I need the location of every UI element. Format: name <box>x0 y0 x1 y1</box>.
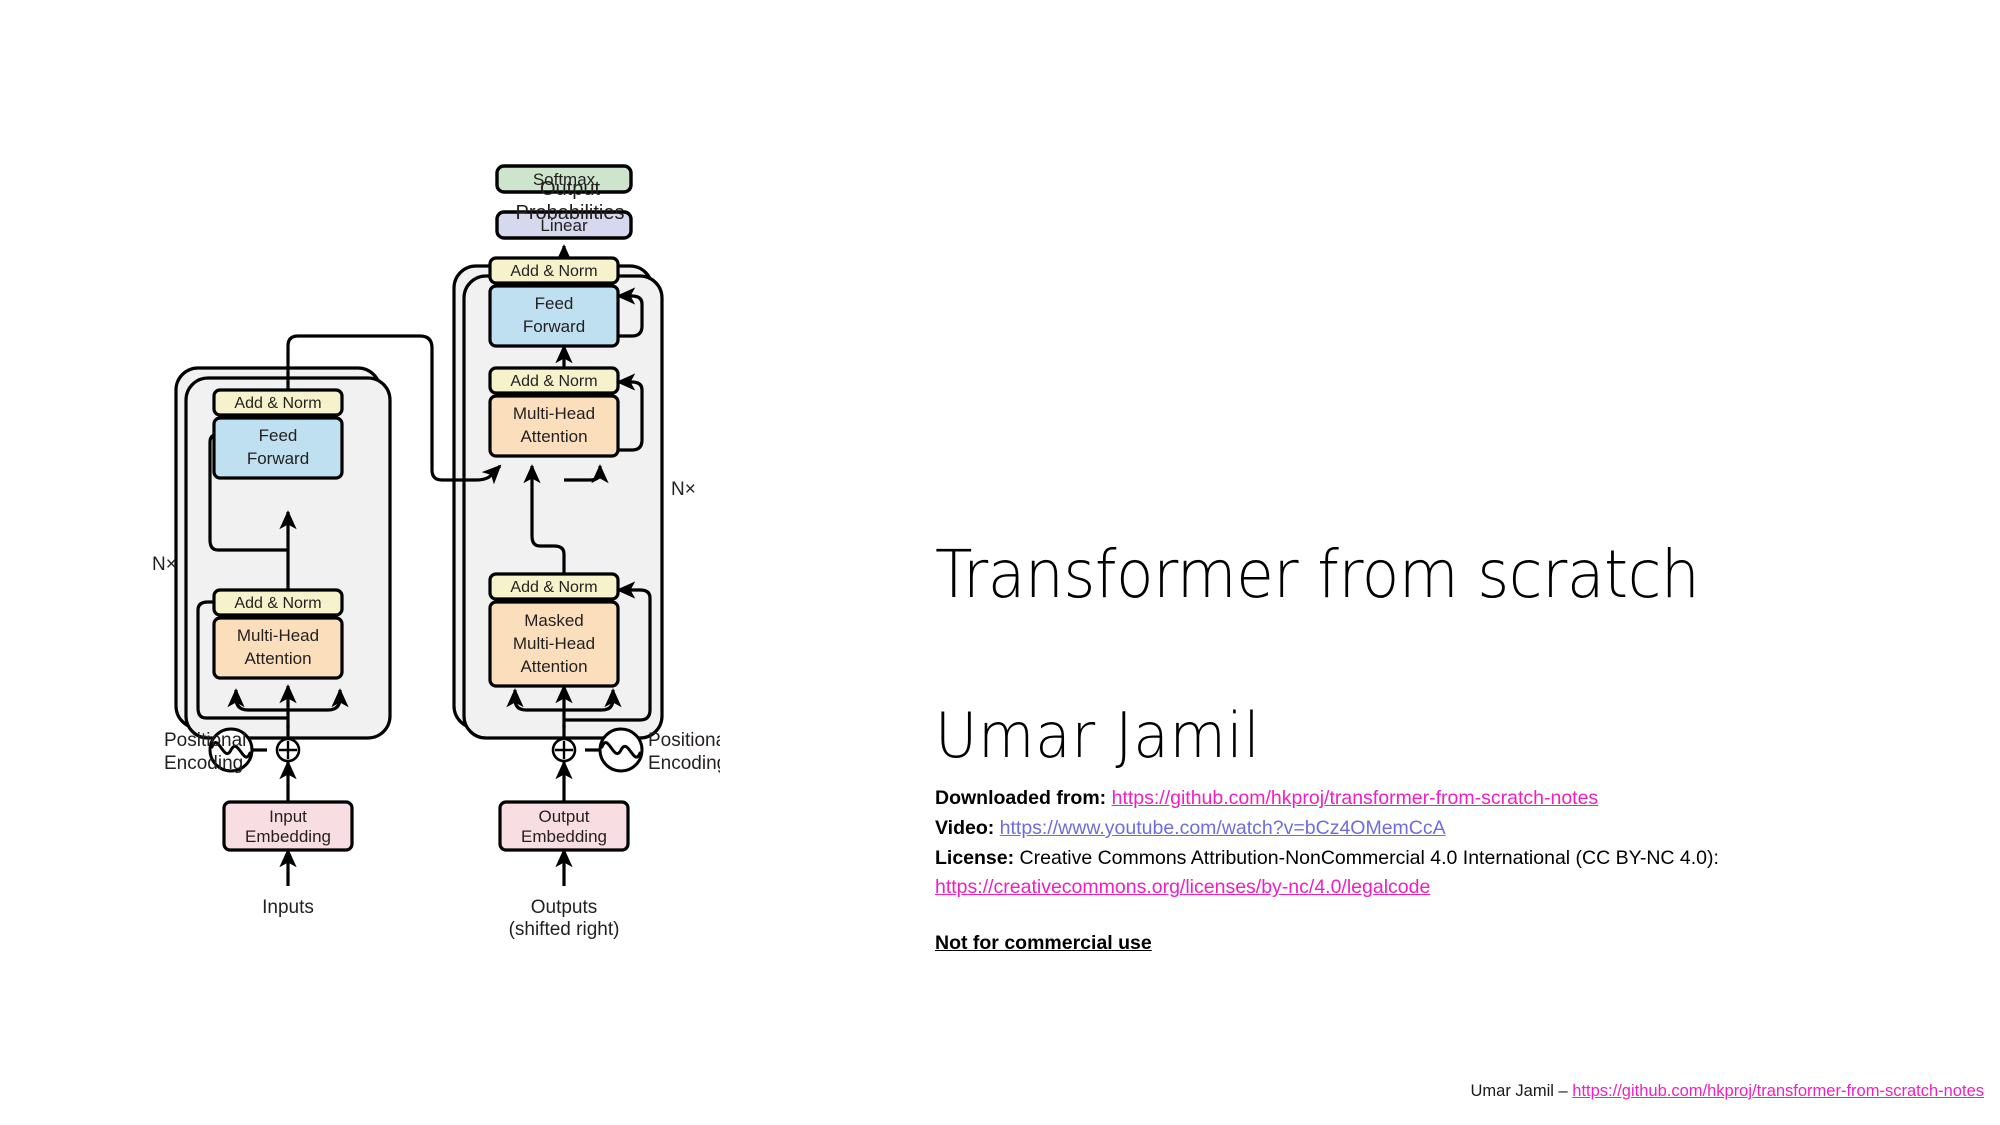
downloaded-from-label: Downloaded from: <box>935 787 1106 809</box>
credits-license-url-line: https://creativecommons.org/licenses/by-… <box>935 873 1945 903</box>
transformer-architecture-figure: Softmax Linear Add & Norm Feed Forward <box>140 150 720 970</box>
decoder-feed-forward: Feed Forward <box>490 286 618 346</box>
output-embedding-label-line1: Output <box>538 807 589 826</box>
commercial-use-notice: Not for commercial use <box>935 929 1152 959</box>
decoder-crossattn-label-line2: Attention <box>520 427 587 446</box>
decoder-crossattn-label-line1: Multi-Head <box>513 404 595 423</box>
output-embedding-box: Output Embedding <box>500 802 628 850</box>
input-embedding-label-line1: Input <box>269 807 307 826</box>
page-title: Transformer from scratch <box>935 540 1874 609</box>
transformer-diagram-svg: Softmax Linear Add & Norm Feed Forward <box>140 150 720 970</box>
encoder-self-attention: Multi-Head Attention <box>214 618 342 678</box>
decoder-ff-label-line2: Forward <box>523 317 585 336</box>
credits-block: Downloaded from: https://github.com/hkpr… <box>935 784 1945 958</box>
decoder-sum-node <box>553 739 575 761</box>
video-link[interactable]: https://www.youtube.com/watch?v=bCz4OMem… <box>1000 817 1446 839</box>
footer: Umar Jamil – https://github.com/hkproj/t… <box>1471 1082 1985 1101</box>
encoder-positional-label-line2: Encoding <box>164 753 243 774</box>
decoder-positional-label-line1: Positional <box>648 730 720 751</box>
encoder-ff-label-line2: Forward <box>247 449 309 468</box>
softmax-box: Softmax <box>497 166 631 192</box>
encoder-feed-forward: Feed Forward <box>214 418 342 478</box>
linear-label: Linear <box>540 216 588 235</box>
input-embedding-box: Input Embedding <box>224 802 352 850</box>
masked-label-line2: Multi-Head <box>513 634 595 653</box>
author-name: Umar Jamil <box>935 609 1874 768</box>
encoder-attn-label-line2: Attention <box>244 649 311 668</box>
masked-label-line3: Attention <box>520 657 587 676</box>
inputs-label: Inputs <box>262 897 314 918</box>
footer-link[interactable]: https://github.com/hkproj/transformer-fr… <box>1572 1082 1984 1100</box>
input-embedding-label-line2: Embedding <box>245 827 331 846</box>
encoder-positional-label-line1: Positional <box>164 730 246 751</box>
encoder-nx-label: N× <box>152 554 177 575</box>
decoder-addnorm-bottom-label: Add & Norm <box>510 579 597 596</box>
decoder-addnorm-bottom: Add & Norm <box>490 574 618 599</box>
encoder-addnorm-top: Add & Norm <box>214 390 342 415</box>
decoder-nx-label: N× <box>671 479 696 500</box>
decoder-positional-label-line2: Encoding <box>648 753 720 774</box>
encoder-sum-node <box>277 739 299 761</box>
credits-video-line: Video: https://www.youtube.com/watch?v=b… <box>935 814 1945 844</box>
outputs-label-line1: Outputs <box>531 897 598 918</box>
output-embedding-label-line2: Embedding <box>521 827 607 846</box>
video-label: Video: <box>935 817 994 839</box>
credits-downloaded-line: Downloaded from: https://github.com/hkpr… <box>935 784 1945 814</box>
decoder-positional-encoding-icon <box>600 729 642 771</box>
outputs-label-line2: (shifted right) <box>509 919 620 940</box>
encoder-attn-label-line1: Multi-Head <box>237 626 319 645</box>
decoder-ff-label-line1: Feed <box>535 294 574 313</box>
encoder-ff-label-line1: Feed <box>259 426 298 445</box>
slide-canvas: Softmax Linear Add & Norm Feed Forward <box>0 0 2000 1125</box>
encoder-addnorm-bottom: Add & Norm <box>214 590 342 615</box>
footer-author: Umar Jamil – <box>1471 1082 1573 1100</box>
license-label: License: <box>935 847 1014 869</box>
encoder-addnorm-top-label: Add & Norm <box>234 395 321 412</box>
decoder-addnorm-top-label: Add & Norm <box>510 263 597 280</box>
license-text: Creative Commons Attribution-NonCommerci… <box>1020 847 1719 869</box>
decoder-cross-attention: Multi-Head Attention <box>490 396 618 456</box>
linear-box: Linear <box>497 212 631 238</box>
encoder-addnorm-bottom-label: Add & Norm <box>234 595 321 612</box>
masked-label-line1: Masked <box>524 611 584 630</box>
decoder-addnorm-top: Add & Norm <box>490 258 618 283</box>
title-panel: Transformer from scratch Umar Jamil Down… <box>935 540 1945 959</box>
decoder-addnorm-middle-label: Add & Norm <box>510 373 597 390</box>
decoder-addnorm-middle: Add & Norm <box>490 368 618 393</box>
credits-license-line: License: Creative Commons Attribution-No… <box>935 844 1945 874</box>
decoder-masked-attention: Masked Multi-Head Attention <box>490 602 618 686</box>
downloaded-from-link[interactable]: https://github.com/hkproj/transformer-fr… <box>1112 787 1599 809</box>
commercial-use-notice-wrap: Not for commercial use <box>935 903 1945 959</box>
softmax-label: Softmax <box>533 170 596 189</box>
license-link[interactable]: https://creativecommons.org/licenses/by-… <box>935 876 1430 898</box>
